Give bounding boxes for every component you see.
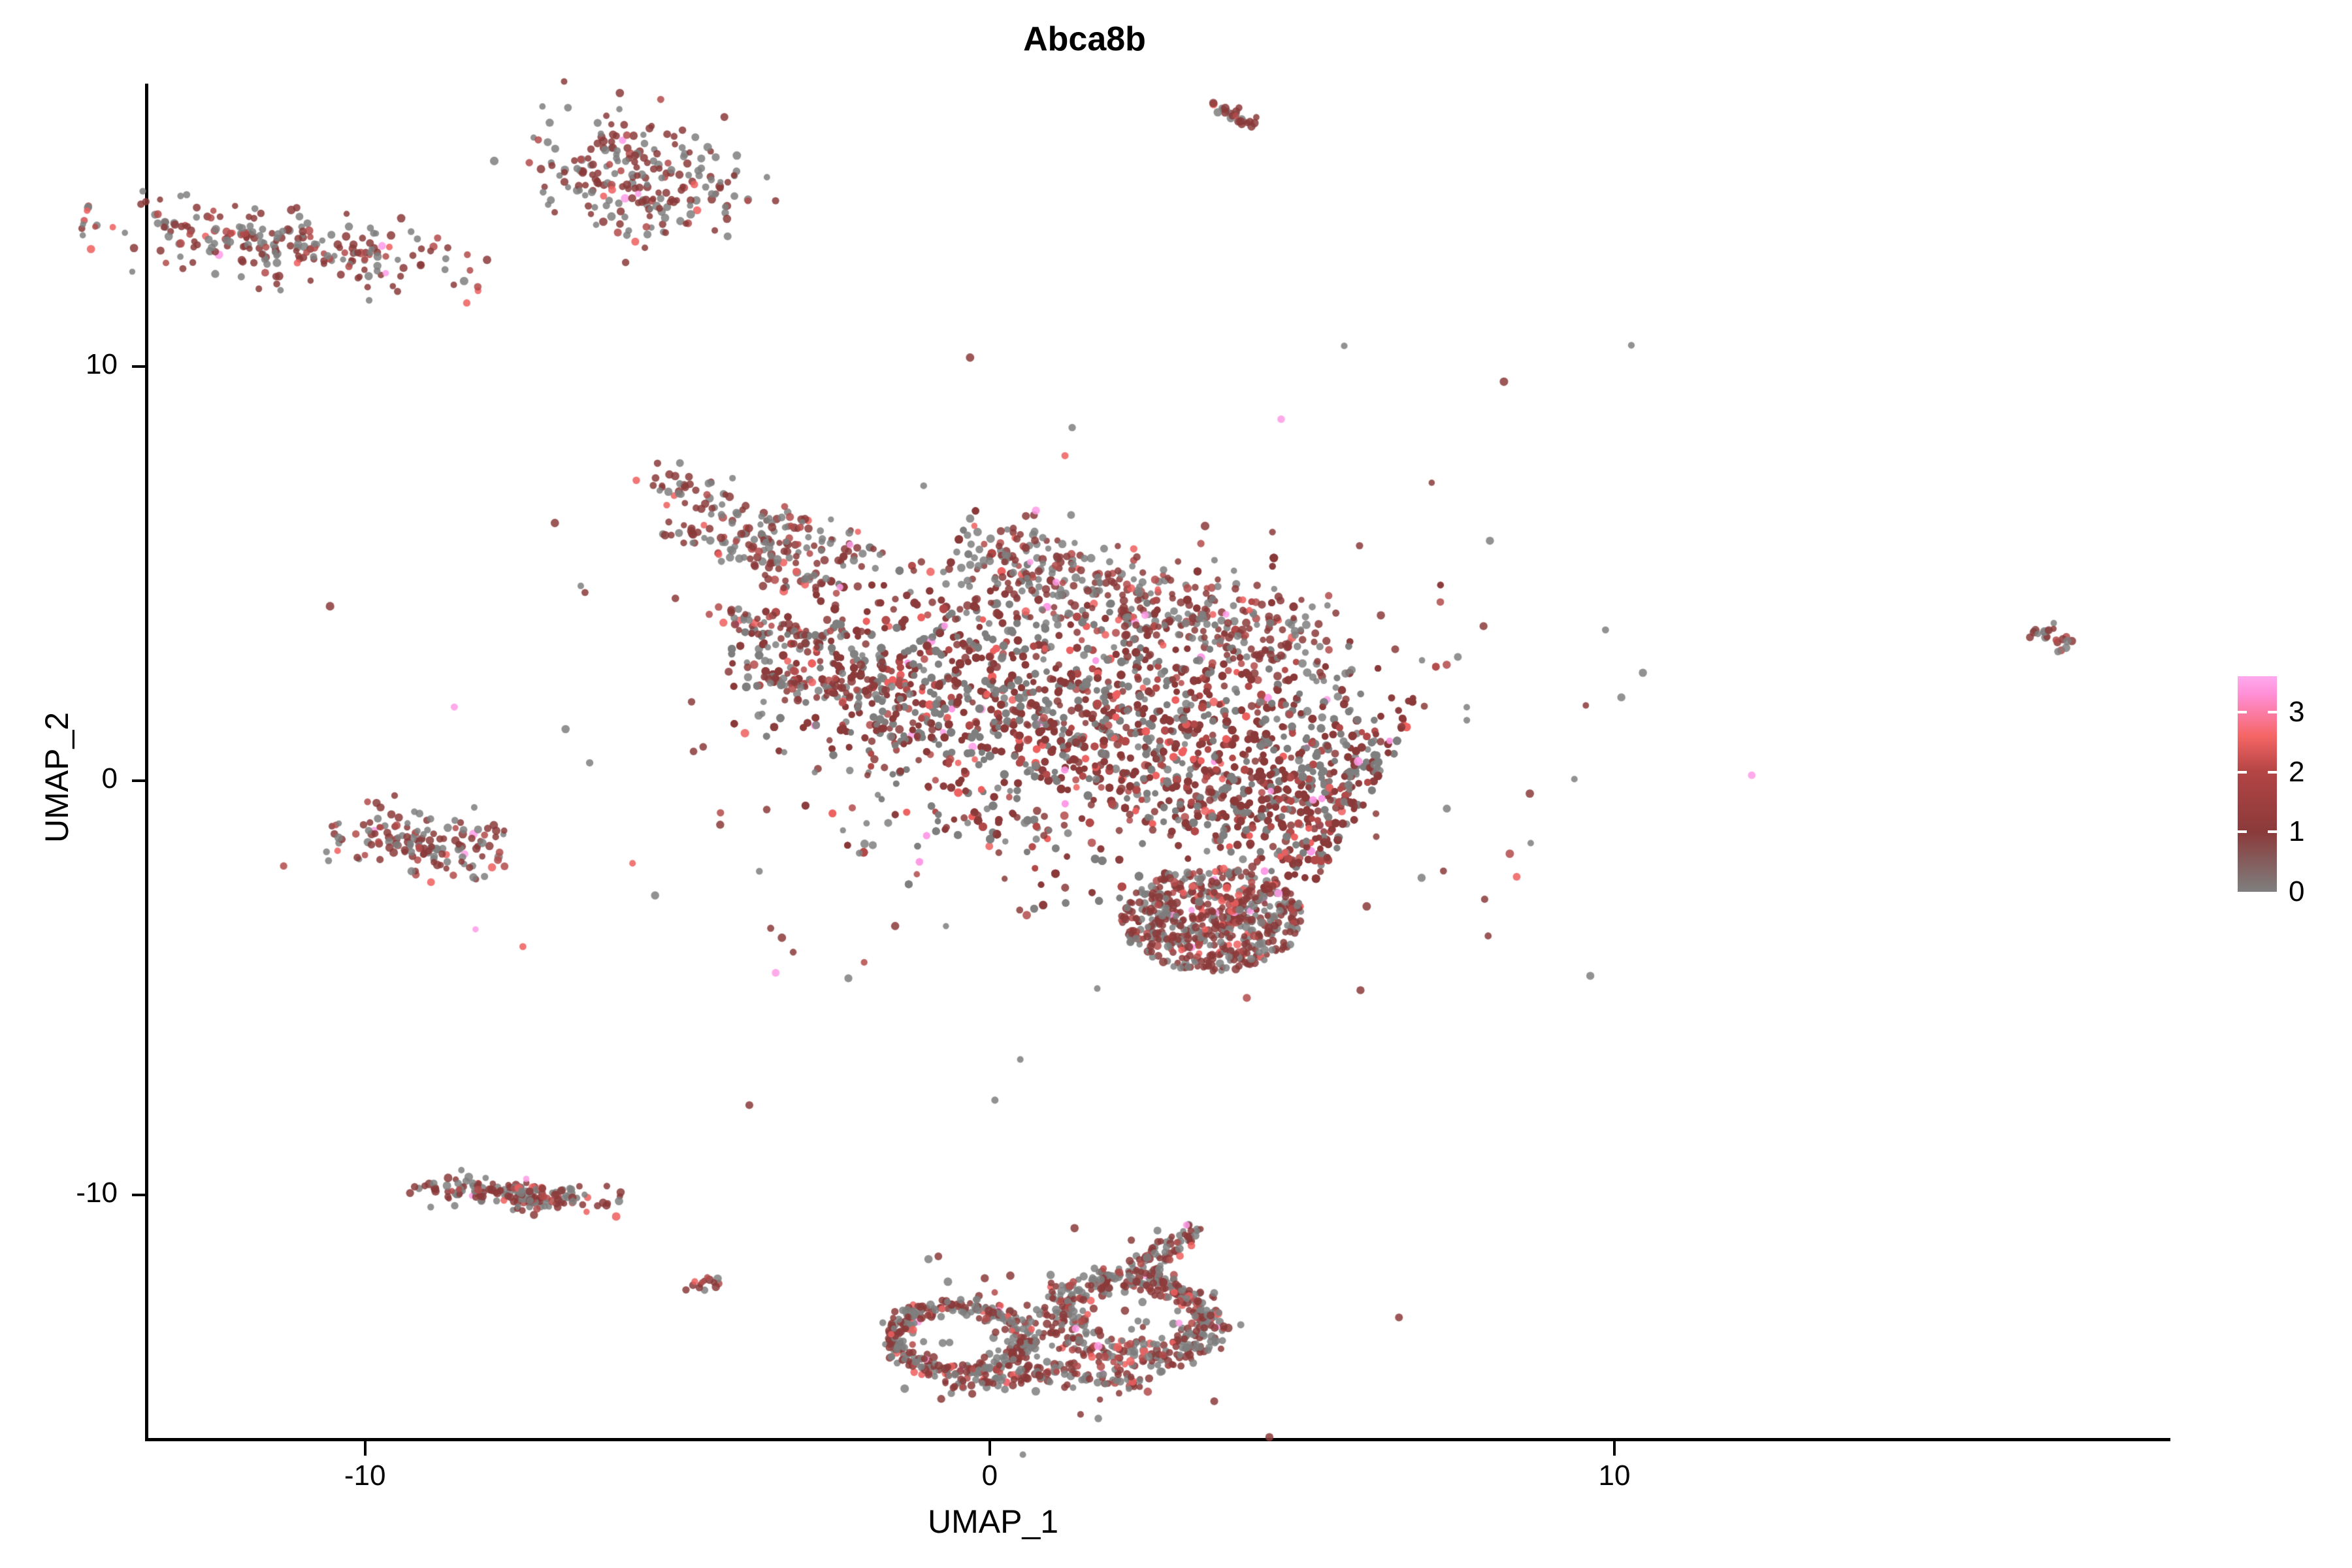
x-tick-label: 10 bbox=[1599, 1460, 1631, 1492]
x-tick-label: 0 bbox=[982, 1460, 998, 1492]
color-legend: 3210 bbox=[2238, 676, 2342, 892]
x-axis-label: UMAP_1 bbox=[928, 1503, 1058, 1541]
legend-tick-mark bbox=[2238, 830, 2277, 833]
umap-feature-plot: Abca8b 100-10 -10010 UMAP_2 UMAP_1 3210 bbox=[0, 0, 2352, 1568]
x-tick-mark bbox=[1613, 1441, 1616, 1456]
legend-tick-mark bbox=[2238, 771, 2277, 774]
y-tick-mark bbox=[132, 779, 145, 782]
y-tick-label: -10 bbox=[76, 1177, 118, 1209]
x-tick-mark bbox=[988, 1441, 991, 1456]
legend-tick-mark bbox=[2238, 711, 2277, 713]
legend-tick-label: 2 bbox=[2289, 756, 2304, 789]
y-tick-label: 0 bbox=[102, 762, 118, 795]
y-tick-mark bbox=[132, 365, 145, 368]
legend-tick-label: 3 bbox=[2289, 696, 2304, 728]
scatter-canvas bbox=[0, 0, 2352, 1568]
y-axis-label: UMAP_2 bbox=[38, 712, 76, 843]
y-tick-label: 10 bbox=[86, 348, 118, 381]
y-tick-mark bbox=[132, 1194, 145, 1196]
legend-tick-label: 1 bbox=[2289, 815, 2304, 848]
legend-tick-label: 0 bbox=[2289, 875, 2304, 908]
x-tick-label: -10 bbox=[344, 1460, 386, 1492]
x-tick-mark bbox=[364, 1441, 367, 1456]
legend-colorbar bbox=[2238, 676, 2277, 892]
